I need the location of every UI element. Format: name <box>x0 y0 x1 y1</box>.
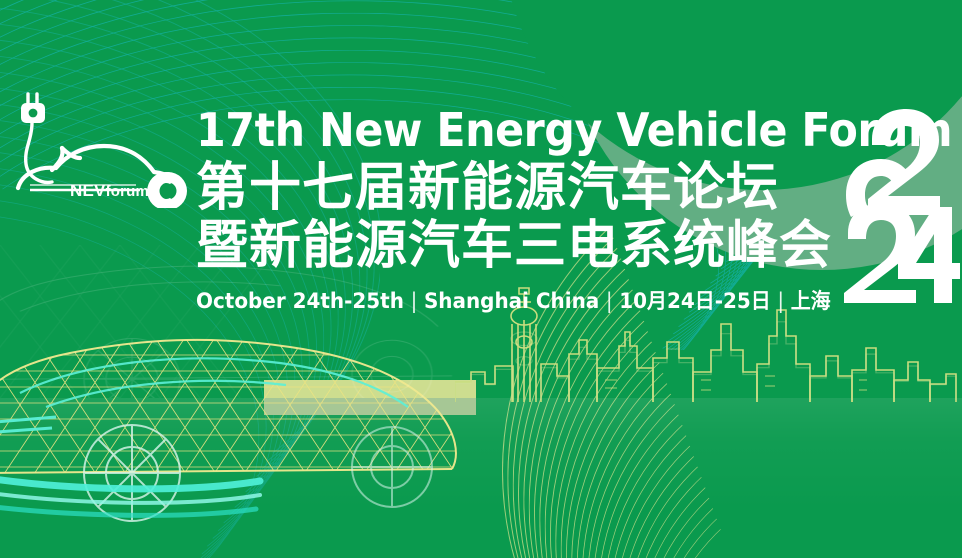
title-chinese-main: 第十七届新能源汽车论坛 <box>196 158 846 218</box>
title-block: 17th New Energy Vehicle Forum 第十七届新能源汽车论… <box>196 104 846 314</box>
title-english: 17th New Energy Vehicle Forum <box>196 104 801 156</box>
logo-wordmark: NEVforum <box>70 181 149 201</box>
event-meta: October 24th-25th|Shanghai China|10月24日-… <box>196 288 814 314</box>
meta-date-en: October 24th-25th <box>196 289 404 313</box>
event-poster: NEVforum 17th New Energy Vehicle Foru <box>0 0 962 558</box>
shanghai-skyline-reflection <box>455 307 962 401</box>
meta-location-cn: 上海 <box>791 289 831 313</box>
logo-text-nev: NEV <box>70 181 106 200</box>
wheel-icon <box>147 172 187 208</box>
meta-separator-2: | <box>599 289 619 313</box>
title-chinese-sub: 暨新能源汽车三电系统峰会 <box>196 216 846 276</box>
meta-location-en: Shanghai China <box>424 289 599 313</box>
logo-text-forum: forum <box>106 183 150 200</box>
meta-date-cn: 10月24日-25日 <box>619 289 770 313</box>
meta-separator-3: | <box>771 289 791 313</box>
meta-separator-1: | <box>404 289 424 313</box>
